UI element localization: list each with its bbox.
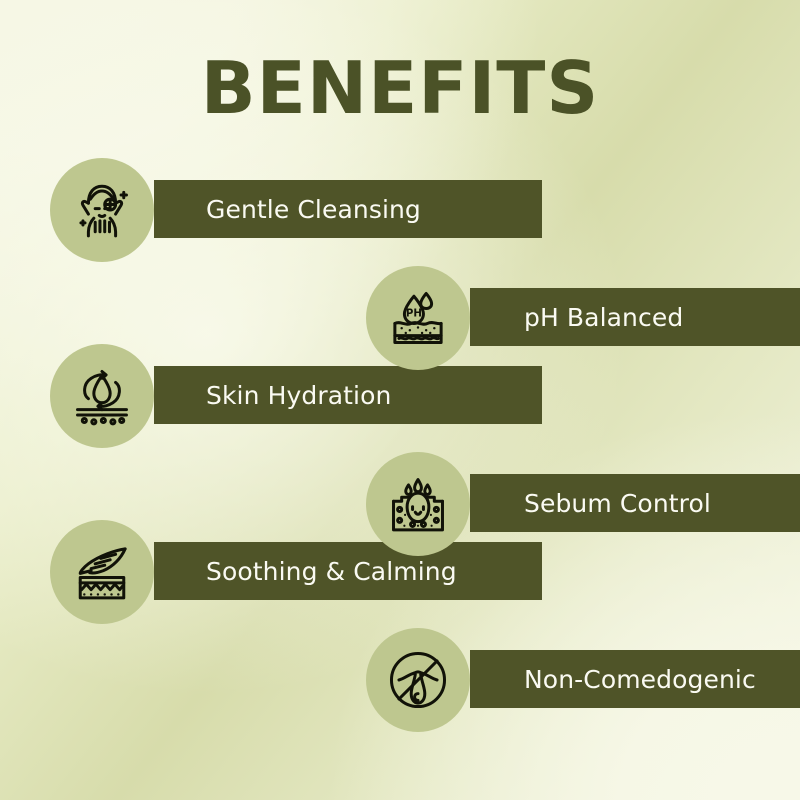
benefit-row-sebum-control: Sebum Control — [366, 452, 800, 556]
benefit-label: Skin Hydration — [154, 381, 391, 410]
ph-droplet-skin-icon: PH — [366, 266, 470, 370]
svg-text:PH: PH — [406, 309, 422, 320]
benefit-row-gentle-cleansing: Gentle Cleansing — [50, 158, 490, 262]
sebaceous-gland-icon — [366, 452, 470, 556]
benefit-bar: Skin Hydration — [154, 366, 542, 424]
benefit-bar: pH Balanced — [470, 288, 800, 346]
face-washing-icon — [50, 158, 154, 262]
benefit-bar: Sebum Control — [470, 474, 800, 532]
benefit-label: Sebum Control — [470, 489, 711, 518]
benefit-bar: Non-Comedogenic — [470, 650, 800, 708]
benefit-bar: Soothing & Calming — [154, 542, 542, 600]
hydration-cycle-icon — [50, 344, 154, 448]
benefit-row-non-comedogenic: Non-Comedogenic — [366, 628, 800, 732]
benefit-label: Non-Comedogenic — [470, 665, 756, 694]
benefit-label: Soothing & Calming — [154, 557, 457, 586]
blocked-pore-icon — [366, 628, 470, 732]
benefit-label: pH Balanced — [470, 303, 683, 332]
benefit-label: Gentle Cleansing — [154, 195, 421, 224]
benefit-row-ph-balanced: pH Balanced PH — [366, 266, 800, 370]
benefits-infographic: BENEFITS Gentle Cleansing — [0, 0, 800, 800]
feather-skin-icon — [50, 520, 154, 624]
benefit-bar: Gentle Cleansing — [154, 180, 542, 238]
page-title: BENEFITS — [0, 52, 800, 124]
